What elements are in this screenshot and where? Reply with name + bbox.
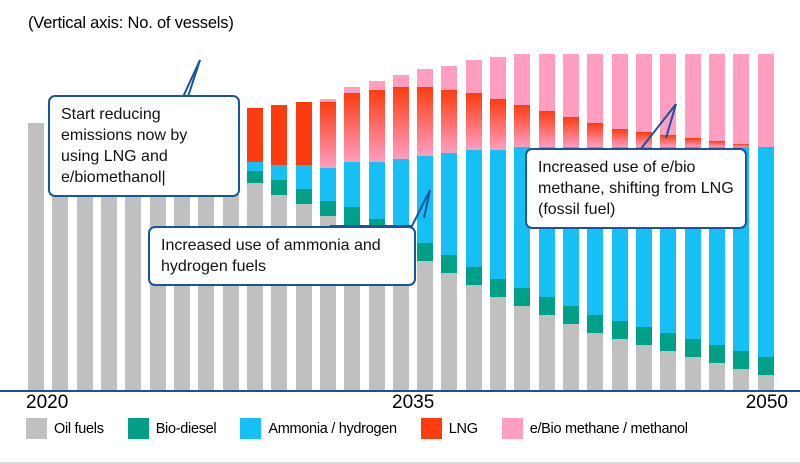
bar-segment-ebio (758, 54, 774, 147)
legend-swatch-lng (421, 418, 442, 439)
bar-segment-lng (417, 87, 433, 156)
bar-segment-bio (709, 345, 725, 363)
bar-segment-oil (733, 369, 749, 390)
bar-segment-bio (612, 321, 628, 339)
bar-segment-oil (466, 285, 482, 390)
bar-segment-bio (758, 357, 774, 375)
bar-segment-bio (660, 333, 676, 351)
bar-segment-lng (441, 90, 457, 153)
bar-segment-ebio (490, 57, 506, 99)
chart-figure: (Vertical axis: No. of vessels) 2020 203… (0, 0, 800, 464)
x-axis-label-end: 2050 (746, 392, 788, 414)
bar-segment-oil (636, 345, 652, 390)
bar-segment-oil (271, 195, 287, 390)
bar-segment-lng (563, 117, 579, 147)
legend-item-amm: Ammonia / hydrogen (240, 418, 396, 439)
legend-swatch-ebio (502, 418, 523, 439)
bar-segment-ebio (441, 66, 457, 90)
bar-segment-oil (709, 363, 725, 390)
bar-segment-oil (758, 375, 774, 390)
bar-segment-lng (320, 102, 336, 168)
bar-segment-oil (247, 183, 263, 390)
bar-segment-oil (587, 333, 603, 390)
legend-swatch-amm (240, 418, 261, 439)
bar-segment-bio (514, 288, 530, 306)
bar-segment-ebio (369, 81, 385, 90)
legend-label-lng: LNG (449, 421, 478, 437)
legend-label-ebio: e/Bio methane / methanol (530, 421, 688, 437)
bar-segment-bio (636, 327, 652, 345)
legend-swatch-oil (26, 418, 47, 439)
bar-segment-lng (344, 93, 360, 162)
bar-segment-oil (539, 315, 555, 390)
bar-segment-ebio (466, 60, 482, 93)
bar-segment-oil (490, 297, 506, 390)
legend-item-bio: Bio-diesel (128, 418, 217, 439)
bar-segment-amm (758, 147, 774, 357)
bar-segment-oil (660, 351, 676, 390)
callout-ebio-methane: Increased use of e/bio methane, shifting… (525, 148, 747, 229)
bar-segment-ebio (393, 75, 409, 87)
bar-segment-bio (563, 306, 579, 324)
bar-segment-ebio (539, 54, 555, 111)
x-axis-label-middle: 2035 (392, 392, 434, 414)
bar-segment-lng (490, 99, 506, 150)
legend-label-bio: Bio-diesel (156, 421, 217, 437)
bar-segment-bio (733, 351, 749, 369)
bar-segment-lng (514, 105, 530, 147)
legend-item-oil: Oil fuels (26, 418, 104, 439)
legend: Oil fuelsBio-dieselAmmonia / hydrogenLNG… (26, 418, 712, 439)
bar-segment-ebio (514, 54, 530, 105)
callout-start-reducing-emissions: Start reducing emissions now by using LN… (48, 95, 240, 197)
bar-segment-lng (393, 87, 409, 159)
bar-segment-oil (514, 306, 530, 390)
legend-swatch-bio (128, 418, 149, 439)
bar-segment-oil (563, 324, 579, 390)
x-axis-label-start: 2020 (26, 392, 68, 414)
bar-segment-bio (685, 339, 701, 357)
bar-segment-ebio (417, 69, 433, 87)
bar-segment-ebio (563, 54, 579, 117)
legend-item-ebio: e/Bio methane / methanol (502, 418, 688, 439)
legend-item-lng: LNG (421, 418, 478, 439)
bar-segment-oil (685, 357, 701, 390)
callout-ammonia-hydrogen: Increased use of ammonia and hydrogen fu… (148, 226, 416, 286)
bar-segment-bio (587, 315, 603, 333)
bar-segment-lng (369, 90, 385, 162)
bar-segment-lng (539, 111, 555, 147)
bar-segment-bio (539, 297, 555, 315)
bar-2050 (758, 54, 774, 390)
bar-segment-oil (612, 339, 628, 390)
bar-segment-lng (466, 93, 482, 150)
legend-label-oil: Oil fuels (54, 421, 104, 437)
legend-label-amm: Ammonia / hydrogen (268, 421, 396, 437)
